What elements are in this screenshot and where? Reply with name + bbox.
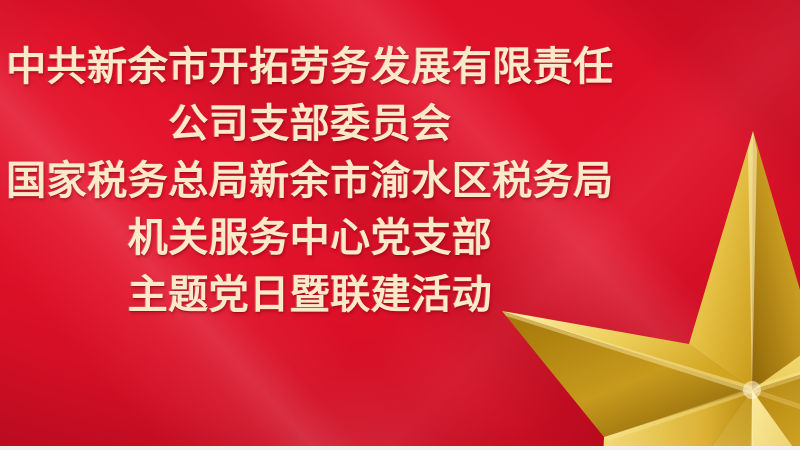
banner-poster: 中共新余市开拓劳务发展有限责任 公司支部委员会 国家税务总局新余市渝水区税务局 …	[0, 0, 800, 450]
headline-line-4: 机关服务中心党支部	[128, 218, 493, 258]
headline-text-block: 中共新余市开拓劳务发展有限责任 公司支部委员会 国家税务总局新余市渝水区税务局 …	[0, 0, 620, 450]
bottom-edge-strip	[0, 446, 800, 450]
headline-line-3: 国家税务总局新余市渝水区税务局	[6, 161, 614, 201]
headline-line-1: 中共新余市开拓劳务发展有限责任	[6, 47, 614, 87]
headline-line-5: 主题党日暨联建活动	[128, 275, 493, 315]
headline-line-2: 公司支部委员会	[168, 104, 452, 144]
